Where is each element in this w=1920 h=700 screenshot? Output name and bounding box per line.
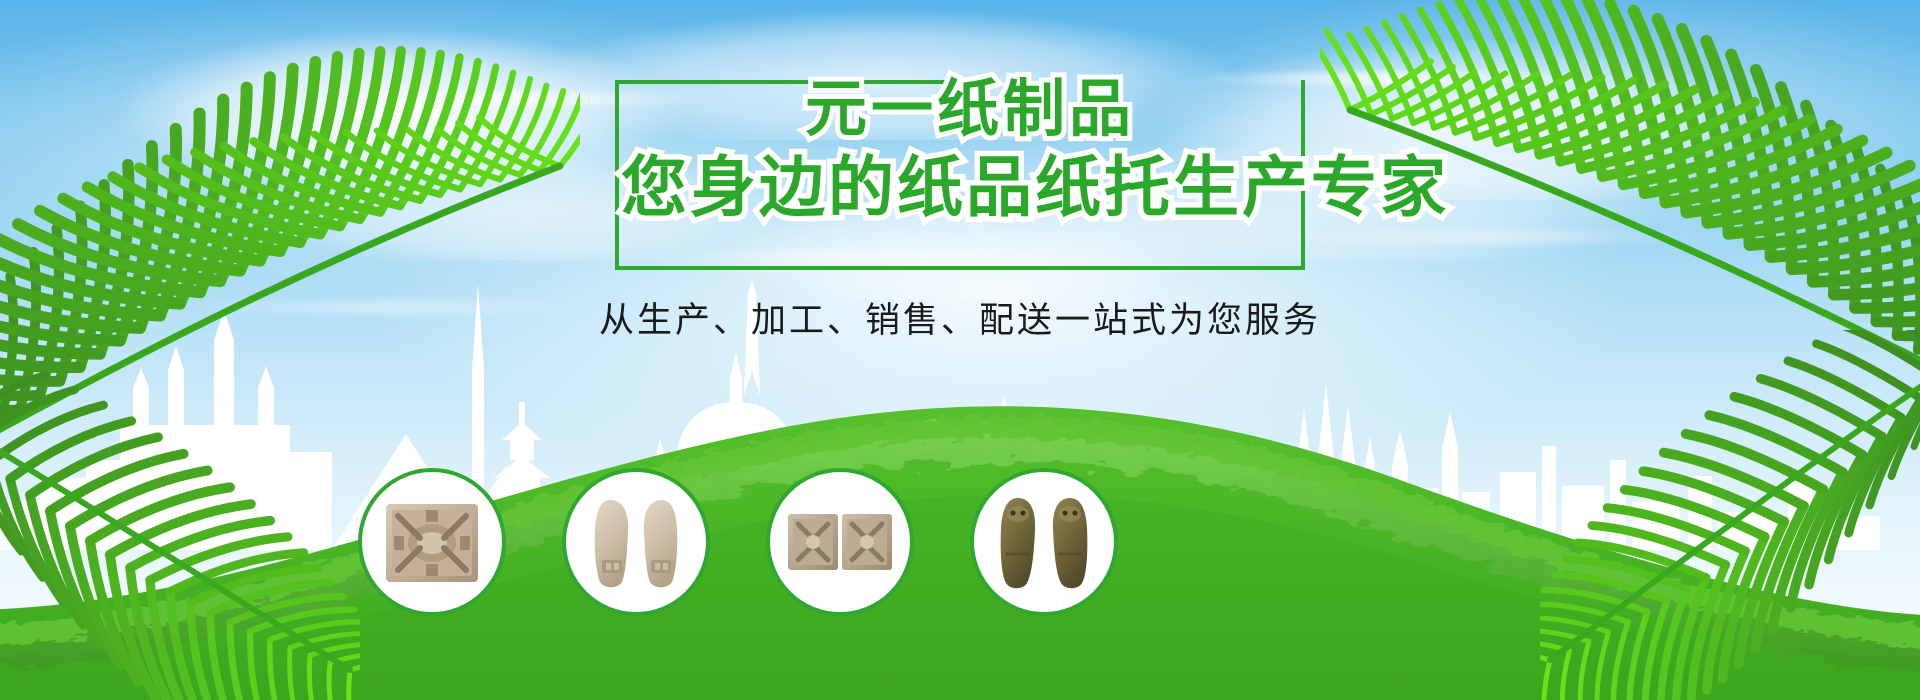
banner-subtitle: 从生产、加工、销售、配送一站式为您服务 [599,292,1321,343]
molded-pulp-tray-pair-icon [784,492,896,592]
product-circle-molded-pulp-pair[interactable] [766,468,914,616]
paper-shoe-tree-icon [580,492,692,592]
molded-pulp-tray-icon [376,492,488,592]
promotional-banner: 元一纸制品 您身边的纸品纸托生产专家 从生产、加工、销售、配送一站式为您服务 [0,0,1920,700]
headline-title: 您身边的纸品纸托生产专家 [621,134,1449,230]
title-frame: 元一纸制品 您身边的纸品纸托生产专家 [615,80,1305,270]
product-circle-molded-pulp-tray[interactable] [358,468,506,616]
product-circle-row [0,468,1920,618]
product-circle-paper-shoe-tree[interactable] [562,468,710,616]
paper-shoe-insert-icon [988,492,1100,592]
banner-text-block: 元一纸制品 您身边的纸品纸托生产专家 从生产、加工、销售、配送一站式为您服务 [0,80,1920,343]
product-circle-paper-shoe-insert[interactable] [970,468,1118,616]
